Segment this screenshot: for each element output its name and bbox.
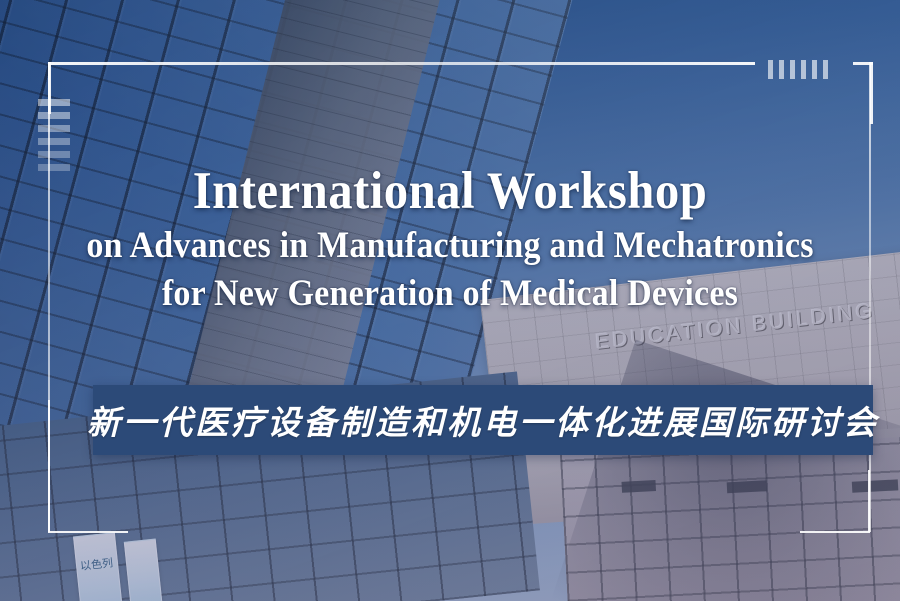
poster-title-block: International Workshop on Advances in Ma… <box>0 160 900 318</box>
conference-poster: EDUCATION BUILDING 以色列 <box>0 0 900 601</box>
title-line-3: for New Generation of Medical Devices <box>36 270 864 318</box>
title-line-2: on Advances in Manufacturing and Mechatr… <box>36 222 864 270</box>
chinese-title-banner: 新一代医疗设备制造和机电一体化进展国际研讨会 <box>93 385 873 455</box>
chinese-title-text: 新一代医疗设备制造和机电一体化进展国际研讨会 <box>87 396 879 444</box>
title-line-1: International Workshop <box>36 160 864 222</box>
